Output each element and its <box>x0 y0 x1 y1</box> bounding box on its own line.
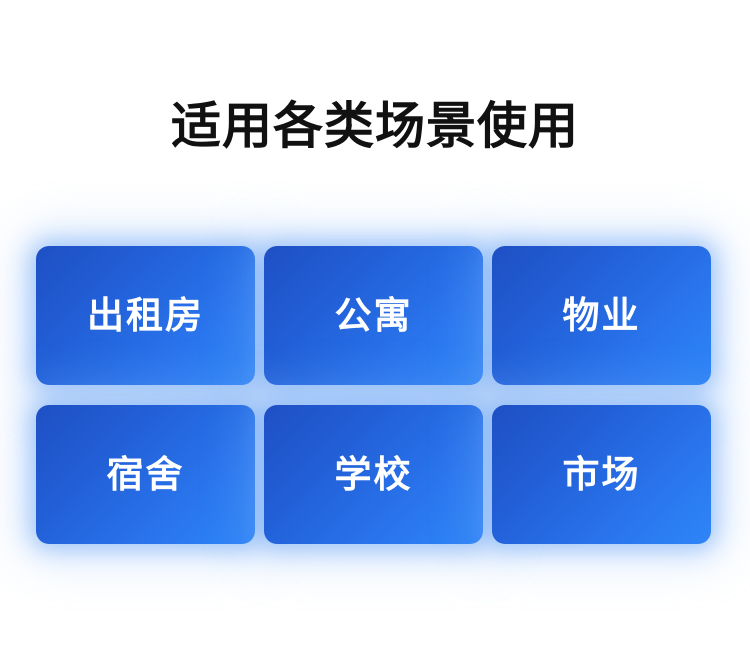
page-title: 适用各类场景使用 <box>0 96 750 156</box>
scene-showcase-page: 适用各类场景使用 出租房 公寓 物业 宿舍 学校 市场 <box>0 0 750 650</box>
scene-card-dormitory[interactable]: 宿舍 <box>36 405 255 544</box>
scene-card-rental-house[interactable]: 出租房 <box>36 246 255 385</box>
scene-card-label: 市场 <box>563 454 641 496</box>
scene-card-label: 宿舍 <box>107 454 185 496</box>
scene-card-property[interactable]: 物业 <box>492 246 711 385</box>
scene-card-label: 物业 <box>563 295 641 337</box>
scene-card-grid: 出租房 公寓 物业 宿舍 学校 市场 <box>36 246 711 544</box>
scene-card-apartment[interactable]: 公寓 <box>264 246 483 385</box>
scene-card-label: 学校 <box>335 454 413 496</box>
scene-card-label: 公寓 <box>335 295 413 337</box>
scene-card-market[interactable]: 市场 <box>492 405 711 544</box>
scene-card-label: 出租房 <box>87 295 204 337</box>
scene-card-school[interactable]: 学校 <box>264 405 483 544</box>
